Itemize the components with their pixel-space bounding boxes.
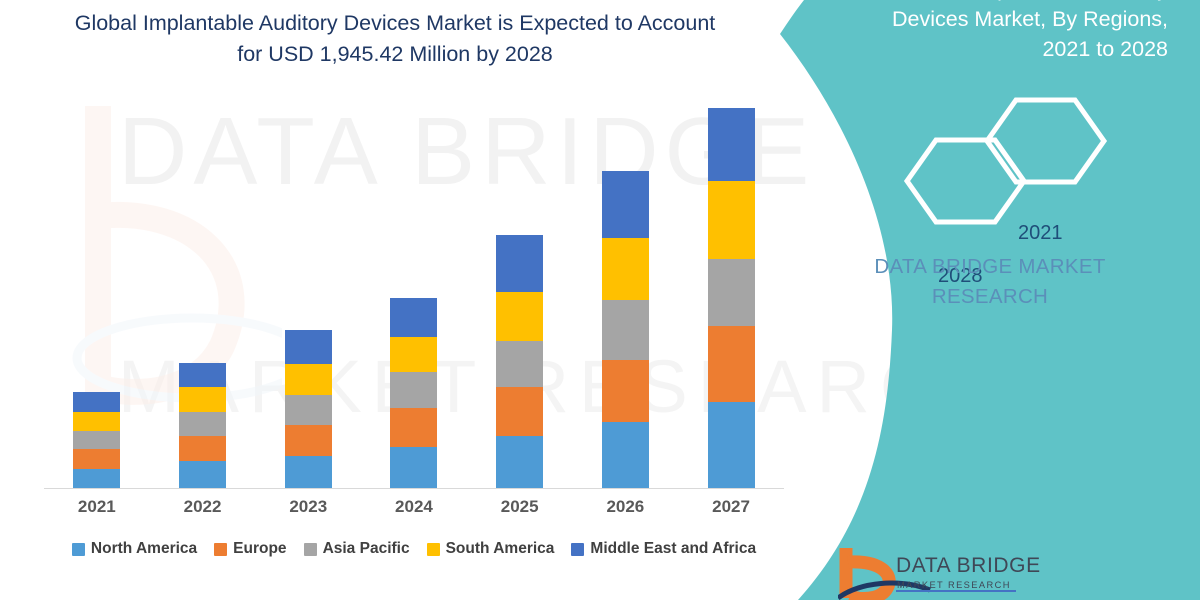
bar-segment[interactable] bbox=[602, 422, 649, 488]
legend-swatch bbox=[427, 543, 440, 556]
legend-label: North America bbox=[91, 540, 197, 558]
bar-segment[interactable] bbox=[285, 425, 332, 456]
company-logo: DATA BRIDGE MARKET RESEARCH bbox=[838, 546, 1078, 600]
x-axis-label: 2027 bbox=[679, 497, 783, 517]
bar-segment[interactable] bbox=[73, 449, 120, 469]
bar-segment[interactable] bbox=[179, 363, 226, 387]
x-axis-label: 2026 bbox=[573, 497, 677, 517]
x-axis-label: 2024 bbox=[362, 497, 466, 517]
bar-segment[interactable] bbox=[179, 461, 226, 488]
bar-segment[interactable] bbox=[602, 300, 649, 360]
bar-segment[interactable] bbox=[708, 326, 755, 402]
stacked-bar[interactable] bbox=[73, 392, 120, 488]
x-axis-label: 2025 bbox=[468, 497, 572, 517]
bar-group bbox=[573, 90, 677, 488]
brand-name: DATA BRIDGE MARKET RESEARCH bbox=[830, 252, 1150, 312]
hexagon-outline-icon bbox=[890, 96, 1120, 226]
bar-group bbox=[45, 90, 149, 488]
bar-segment[interactable] bbox=[179, 412, 226, 436]
panel-content: Global Implantable Auditory Devices Mark… bbox=[780, 0, 1200, 600]
bar-segment[interactable] bbox=[602, 171, 649, 238]
bar-segment[interactable] bbox=[285, 456, 332, 488]
legend-item[interactable]: North America bbox=[72, 540, 197, 558]
bar-segment[interactable] bbox=[496, 292, 543, 341]
bar-segment[interactable] bbox=[73, 412, 120, 431]
bar-segment[interactable] bbox=[602, 238, 649, 300]
legend-item[interactable]: Asia Pacific bbox=[304, 540, 410, 558]
bar-segment[interactable] bbox=[390, 408, 437, 447]
bar-segment[interactable] bbox=[390, 298, 437, 337]
bar-segment[interactable] bbox=[496, 387, 543, 436]
bar-segment[interactable] bbox=[179, 436, 226, 461]
stacked-bar[interactable] bbox=[285, 330, 332, 488]
x-axis-label: 2021 bbox=[45, 497, 149, 517]
chart-infographic: DATA BRIDGE MARKET RESEARCH Global Impla… bbox=[0, 0, 1200, 600]
panel-title: Global Implantable Auditory Devices Mark… bbox=[848, 0, 1168, 64]
hex-label-2021: 2021 bbox=[1018, 222, 1063, 245]
bar-segment[interactable] bbox=[179, 387, 226, 411]
legend-label: South America bbox=[446, 540, 555, 558]
stacked-bar[interactable] bbox=[179, 363, 226, 488]
stacked-bar[interactable] bbox=[708, 108, 755, 488]
logo-tagline: MARKET RESEARCH bbox=[897, 580, 1011, 590]
bar-segment[interactable] bbox=[285, 364, 332, 395]
legend-swatch bbox=[72, 543, 85, 556]
bar-segment[interactable] bbox=[73, 392, 120, 412]
legend-label: Asia Pacific bbox=[323, 540, 410, 558]
legend-swatch bbox=[571, 543, 584, 556]
stacked-bar-series bbox=[44, 90, 784, 488]
bar-segment[interactable] bbox=[496, 436, 543, 488]
legend-item[interactable]: Middle East and Africa bbox=[571, 540, 756, 558]
x-axis-line bbox=[44, 488, 784, 489]
legend-label: Middle East and Africa bbox=[590, 540, 756, 558]
bar-group bbox=[468, 90, 572, 488]
bar-segment[interactable] bbox=[390, 447, 437, 488]
bar-segment[interactable] bbox=[285, 395, 332, 425]
bar-group bbox=[679, 90, 783, 488]
x-axis-label: 2023 bbox=[256, 497, 360, 517]
legend-swatch bbox=[304, 543, 317, 556]
bar-segment[interactable] bbox=[708, 108, 755, 181]
bar-segment[interactable] bbox=[496, 341, 543, 387]
chart-legend: North AmericaEuropeAsia PacificSouth Ame… bbox=[44, 540, 784, 558]
stacked-bar[interactable] bbox=[390, 298, 437, 488]
bar-segment[interactable] bbox=[285, 330, 332, 364]
stacked-bar[interactable] bbox=[602, 171, 649, 488]
bar-segment[interactable] bbox=[73, 469, 120, 488]
bar-group bbox=[151, 90, 255, 488]
bar-group bbox=[362, 90, 466, 488]
legend-item[interactable]: South America bbox=[427, 540, 555, 558]
bar-segment[interactable] bbox=[708, 181, 755, 259]
bar-group bbox=[256, 90, 360, 488]
x-axis-label: 2022 bbox=[151, 497, 255, 517]
bar-segment[interactable] bbox=[390, 372, 437, 408]
hexagon-badges: 2021 2028 bbox=[890, 96, 1120, 226]
logo-wordmark: DATA BRIDGE bbox=[896, 554, 1041, 578]
x-axis-tick-labels: 2021202220232024202520262027 bbox=[44, 497, 784, 517]
legend-swatch bbox=[214, 543, 227, 556]
bar-segment[interactable] bbox=[496, 235, 543, 292]
bar-segment[interactable] bbox=[73, 431, 120, 450]
bar-segment[interactable] bbox=[602, 360, 649, 422]
page-title: Global Implantable Auditory Devices Mark… bbox=[60, 8, 730, 70]
bar-segment[interactable] bbox=[708, 402, 755, 488]
bar-segment[interactable] bbox=[708, 259, 755, 325]
stacked-bar[interactable] bbox=[496, 235, 543, 488]
bar-segment[interactable] bbox=[390, 337, 437, 372]
legend-item[interactable]: Europe bbox=[214, 540, 286, 558]
legend-label: Europe bbox=[233, 540, 286, 558]
